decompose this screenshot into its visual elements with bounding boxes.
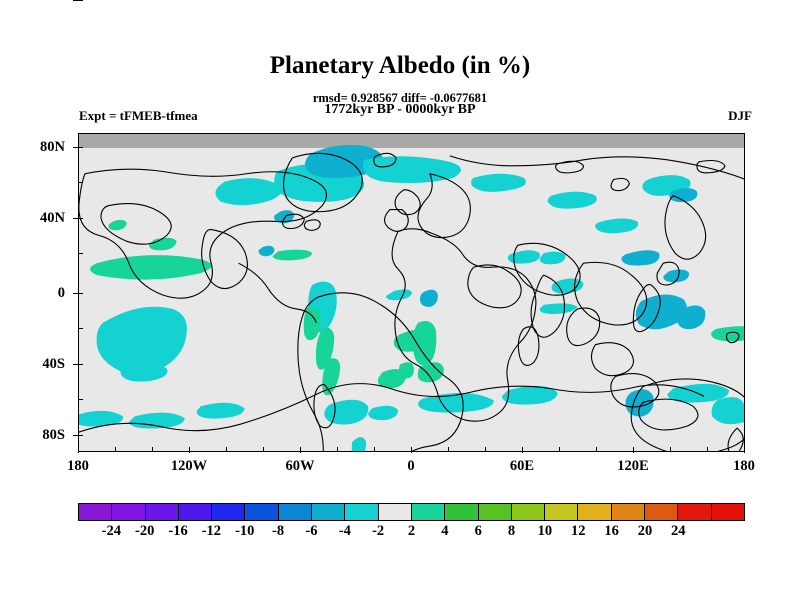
world-map bbox=[79, 134, 744, 451]
colorbar-cell-5[interactable] bbox=[244, 504, 277, 520]
xtick-minor-9 bbox=[559, 447, 560, 451]
patch-so-9 bbox=[712, 397, 744, 424]
xtick-minor-11 bbox=[670, 447, 671, 451]
colorbar-cell-8[interactable] bbox=[344, 504, 377, 520]
ytick-minor-2 bbox=[78, 253, 83, 254]
xtick-minor-3 bbox=[226, 447, 227, 451]
experiment-label: Expt = tFMEB-tfmea bbox=[79, 108, 198, 124]
patch-siberia-1 bbox=[471, 174, 526, 192]
map-plot-area bbox=[78, 133, 745, 452]
patch-indian-ocean-line bbox=[540, 303, 578, 314]
colorbar-cell-18[interactable] bbox=[677, 504, 710, 520]
patch-central-north-pacific bbox=[90, 255, 212, 280]
colorbar-cell-3[interactable] bbox=[178, 504, 211, 520]
patch-patagonia-coast bbox=[352, 437, 366, 451]
xtick-minor-1 bbox=[115, 447, 116, 451]
ytick-label-0: 0 bbox=[5, 285, 65, 302]
colorbar-cell-6[interactable] bbox=[278, 504, 311, 520]
ytick-minor-3 bbox=[78, 328, 83, 329]
xtick-minor-2 bbox=[152, 447, 153, 451]
patch-benguela bbox=[386, 289, 412, 300]
xtick-minor-7 bbox=[448, 447, 449, 451]
ytick-80n bbox=[73, 147, 83, 148]
colorbar-cell-2[interactable] bbox=[145, 504, 178, 520]
xtick-label-120e: 120E bbox=[603, 458, 663, 475]
colorbar[interactable] bbox=[78, 503, 745, 521]
xtick-minor-5 bbox=[337, 447, 338, 451]
patch-central-asia-2 bbox=[540, 252, 566, 265]
season-label: DJF bbox=[728, 108, 752, 124]
xtick-minor-12 bbox=[707, 447, 708, 451]
patch-canada-green bbox=[149, 238, 177, 251]
patch-siberia-3 bbox=[595, 218, 638, 233]
colorbar-labels: -24-20-16-12-10-8-6-4-224681012162024 bbox=[78, 523, 745, 545]
colorbar-cell-14[interactable] bbox=[544, 504, 577, 520]
ytick-eq bbox=[73, 293, 83, 294]
xtick-minor-8 bbox=[485, 447, 486, 451]
colorbar-cell-12[interactable] bbox=[478, 504, 511, 520]
colorbar-cell-1[interactable] bbox=[111, 504, 144, 520]
xtick-0 bbox=[411, 447, 412, 453]
xtick-label-180w: 180 bbox=[48, 458, 108, 475]
page-title: Planetary Albedo (in %) bbox=[0, 52, 800, 80]
ytick-label-80s: 80S bbox=[5, 427, 65, 444]
xtick-minor-10 bbox=[596, 447, 597, 451]
patch-irminger bbox=[215, 178, 281, 205]
xtick-label-0: 0 bbox=[381, 458, 441, 475]
patch-so-5 bbox=[368, 406, 398, 420]
patch-alaska-green bbox=[109, 220, 127, 231]
xtick-label-180e: 180 bbox=[714, 458, 774, 475]
patch-siberia-2 bbox=[548, 192, 597, 209]
colorbar-cell-11[interactable] bbox=[444, 504, 477, 520]
ytick-40n bbox=[73, 218, 83, 219]
colorbar-cell-0[interactable] bbox=[79, 504, 111, 520]
patch-so-4 bbox=[324, 400, 368, 425]
patch-south-pacific-tail bbox=[120, 363, 167, 381]
xtick-120e bbox=[633, 447, 634, 453]
ytick-label-40s: 40S bbox=[5, 356, 65, 373]
colorbar-cell-15[interactable] bbox=[577, 504, 610, 520]
colorbar-cell-9[interactable] bbox=[378, 504, 411, 520]
colorbar-cell-13[interactable] bbox=[511, 504, 544, 520]
ytick-label-80n: 80N bbox=[5, 139, 65, 156]
colorbar-tick-label-17: 24 bbox=[658, 523, 698, 540]
colorbar-cell-17[interactable] bbox=[644, 504, 677, 520]
ytick-0 bbox=[73, 0, 83, 1]
colorbar-cell-19[interactable] bbox=[711, 504, 744, 520]
xtick-60w bbox=[300, 447, 301, 453]
colorbar-cell-16[interactable] bbox=[611, 504, 644, 520]
patch-equatorial-pacific-line bbox=[272, 250, 312, 261]
patch-gulf-mexico bbox=[258, 246, 274, 257]
patch-angola-coast bbox=[420, 290, 438, 307]
xtick-120w bbox=[189, 447, 190, 453]
ytick-40s bbox=[73, 364, 83, 365]
xtick-180w bbox=[78, 447, 79, 453]
ytick-minor-1 bbox=[78, 182, 83, 183]
colorbar-cell-10[interactable] bbox=[411, 504, 444, 520]
xtick-180e bbox=[744, 447, 745, 453]
ytick-minor-4 bbox=[78, 399, 83, 400]
ytick-label-40n: 40N bbox=[5, 210, 65, 227]
xtick-minor-4 bbox=[263, 447, 264, 451]
xtick-label-60w: 60W bbox=[270, 458, 330, 475]
xtick-label-60e: 60E bbox=[492, 458, 552, 475]
patch-tibet bbox=[552, 279, 584, 294]
colorbar-cell-7[interactable] bbox=[311, 504, 344, 520]
patch-central-asia-1 bbox=[508, 250, 540, 263]
xtick-label-120w: 120W bbox=[159, 458, 219, 475]
patch-so-3 bbox=[197, 403, 245, 419]
xtick-60e bbox=[522, 447, 523, 453]
patch-weddell-2 bbox=[399, 362, 414, 378]
colorbar-cell-4[interactable] bbox=[211, 504, 244, 520]
patch-mongolia bbox=[621, 250, 659, 265]
ytick-80s bbox=[73, 435, 83, 436]
xtick-minor-6 bbox=[374, 447, 375, 451]
